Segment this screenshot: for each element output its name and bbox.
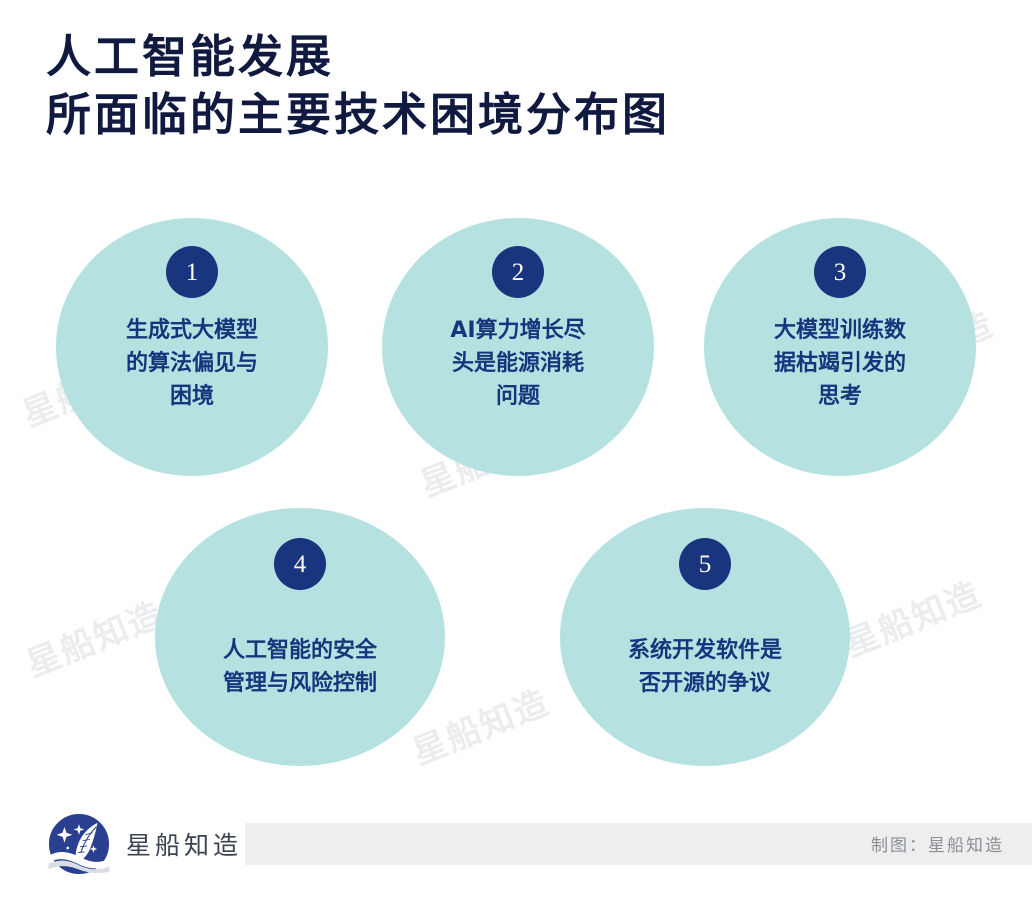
bubble-item-3[interactable]: 3 大模型训练数 据枯竭引发的 思考 (704, 218, 976, 476)
title-line-2: 所面临的主要技术困境分布图 (46, 86, 670, 144)
bubble-item-1[interactable]: 1 生成式大模型 的算法偏见与 困境 (56, 218, 328, 476)
bubble-number-badge-1: 1 (166, 246, 218, 298)
bubble-label-5: 系统开发软件是 否开源的争议 (602, 634, 808, 700)
bubble-label-3: 大模型训练数 据枯竭引发的 思考 (748, 314, 932, 413)
bubble-number-badge-5: 5 (679, 538, 731, 590)
bubble-number-badge-2: 2 (492, 246, 544, 298)
starship-feather-logo-icon (46, 811, 112, 877)
footer: 星船知造 制图：星船知造 (0, 805, 1032, 897)
bubble-number-badge-4: 4 (274, 538, 326, 590)
brand-block: 星船知造 (46, 811, 242, 877)
brand-name: 星船知造 (126, 826, 242, 862)
bubble-item-4[interactable]: 4 人工智能的安全 管理与风险控制 (155, 508, 445, 766)
bubble-number-badge-3: 3 (814, 246, 866, 298)
title-line-1: 人工智能发展 (46, 28, 670, 86)
footer-credit: 制图：星船知造 (871, 831, 1004, 856)
page-title: 人工智能发展 所面临的主要技术困境分布图 (46, 28, 670, 144)
bubble-label-4: 人工智能的安全 管理与风险控制 (197, 634, 403, 700)
bubble-item-5[interactable]: 5 系统开发软件是 否开源的争议 (560, 508, 850, 766)
bubble-label-2: AI算力增长尽 头是能源消耗 问题 (424, 314, 611, 413)
bubble-label-1: 生成式大模型 的算法偏见与 困境 (100, 314, 284, 413)
infographic-page: 人工智能发展 所面临的主要技术困境分布图 1 生成式大模型 的算法偏见与 困境 … (0, 0, 1032, 917)
bubble-item-2[interactable]: 2 AI算力增长尽 头是能源消耗 问题 (382, 218, 654, 476)
